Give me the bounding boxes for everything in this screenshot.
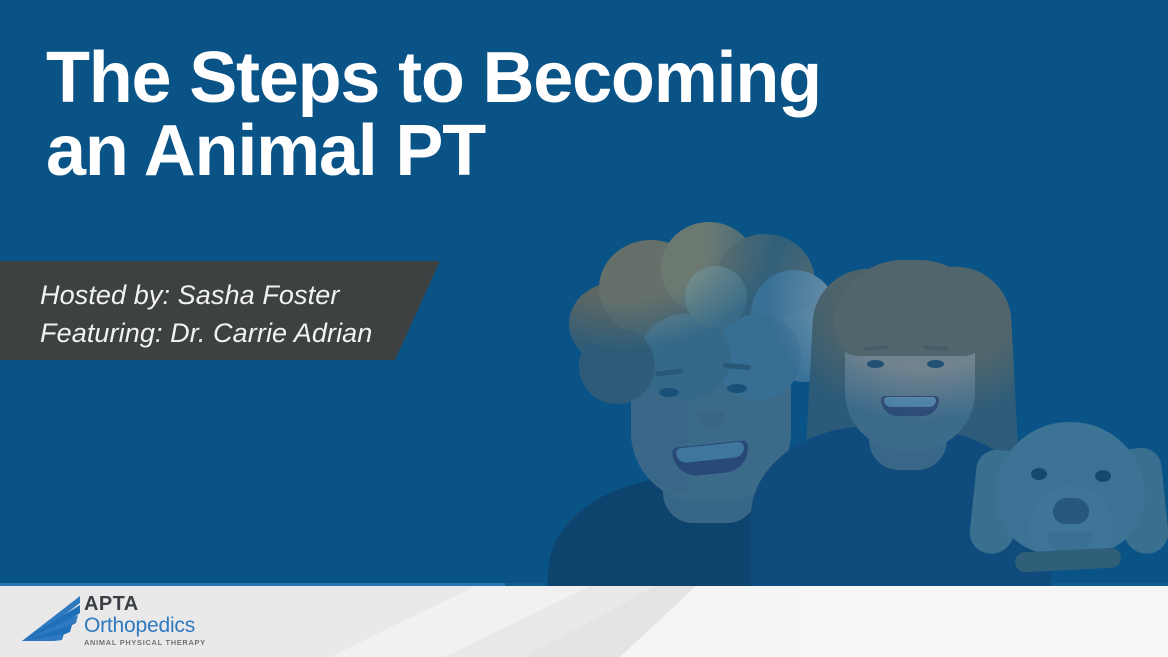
- page-title: The Steps to Becoming an Animal PT: [46, 42, 1116, 189]
- host-line: Hosted by: Sasha Foster: [40, 276, 420, 314]
- dog-collar: [1015, 547, 1122, 573]
- dog-eye-left: [1031, 468, 1047, 480]
- person-a-eye-left: [659, 388, 679, 397]
- logo-division: Orthopedics: [84, 614, 220, 638]
- person-b-smile: [881, 396, 939, 416]
- logo-org-name: APTA: [84, 594, 220, 614]
- apta-orthopedics-logo: APTA Orthopedics ANIMAL PHYSICAL THERAPY: [20, 592, 220, 646]
- dog-eye-right: [1095, 470, 1111, 482]
- logo-wordmark: APTA Orthopedics ANIMAL PHYSICAL THERAPY: [84, 592, 220, 646]
- title-line-1: The Steps to Becoming: [46, 42, 1116, 115]
- apta-fan-icon: [20, 594, 82, 644]
- person-b-eye-left: [867, 360, 884, 368]
- person-a-eye-right: [727, 384, 747, 393]
- logo-tagline: ANIMAL PHYSICAL THERAPY: [84, 639, 220, 646]
- dog-nose: [1053, 498, 1089, 524]
- title-card: The Steps to Becoming an Animal PT Hoste…: [0, 0, 1168, 657]
- person-b-eye-right: [927, 360, 944, 368]
- person-b-teeth: [884, 397, 936, 407]
- title-line-2: an Animal PT: [46, 115, 1116, 188]
- credits-text: Hosted by: Sasha Foster Featuring: Dr. C…: [40, 276, 420, 353]
- yellow-labrador-dog: [973, 414, 1168, 586]
- featuring-line: Featuring: Dr. Carrie Adrian: [40, 314, 420, 352]
